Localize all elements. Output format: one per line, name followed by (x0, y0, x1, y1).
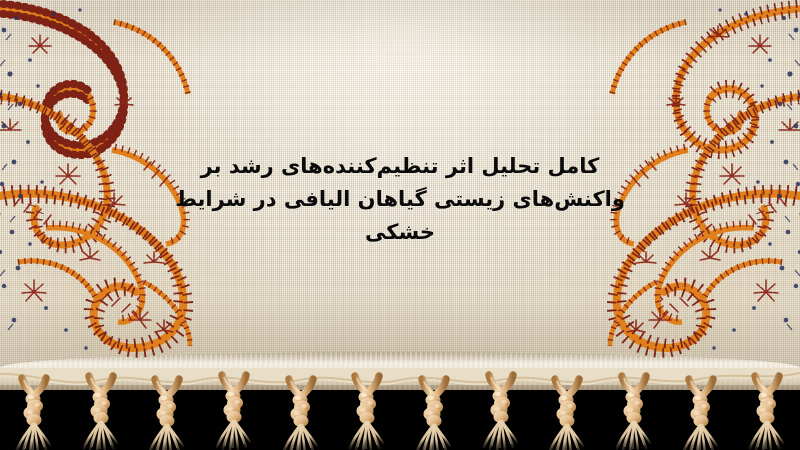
title-line-1: کامل تحلیل اثر تنظیم‌کننده‌های رشد بر (170, 150, 630, 183)
title-line-3: خشکی (170, 216, 630, 249)
title-card-canvas: کامل تحلیل اثر تنظیم‌کننده‌های رشد بر وا… (0, 0, 800, 450)
tassel-fringe (0, 368, 800, 450)
page-title: کامل تحلیل اثر تنظیم‌کننده‌های رشد بر وا… (0, 150, 800, 249)
title-line-2: واکنش‌های زیستی گیاهان الیافی در شرایط (170, 183, 630, 216)
